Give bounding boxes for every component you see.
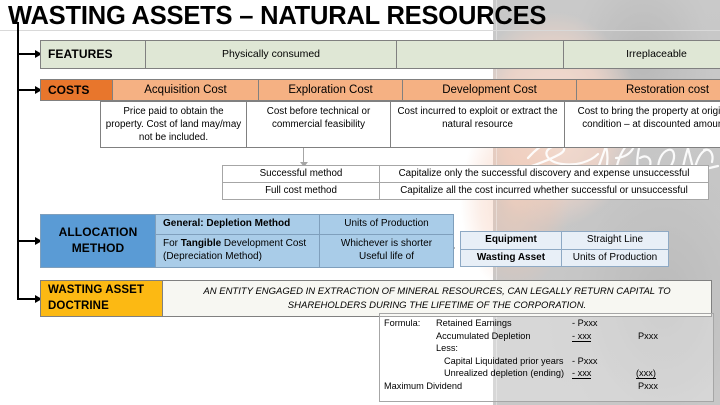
table-row: Price paid to obtain the property. Cost … xyxy=(101,102,720,148)
features-label: FEATURES xyxy=(41,41,146,69)
asset-method-wasting-asset: Units of Production xyxy=(562,249,669,267)
formula-amount-0: - Pxxx xyxy=(572,318,598,328)
allocation-method-tangible: Whichever is shorter Useful life of xyxy=(320,234,454,267)
table-row: WASTING ASSET DOCTRINE AN ENTITY ENGAGED… xyxy=(41,281,712,317)
connector-branch-doctrine xyxy=(17,298,37,300)
table-row: FEATURES Physically consumed Irreplaceab… xyxy=(41,41,720,69)
formula-total-4: (xxx) xyxy=(636,368,656,379)
method-rule-successful: Capitalize only the successful discovery… xyxy=(380,166,709,183)
connector-branch-features xyxy=(17,53,37,55)
allocation-basis-bold: Tangible xyxy=(181,238,221,249)
features-table: FEATURES Physically consumed Irreplaceab… xyxy=(40,40,720,69)
method-name-full-cost: Full cost method xyxy=(223,183,380,200)
formula-item-1: Accumulated Depletion xyxy=(436,331,530,341)
formula-footer-total: Pxxx xyxy=(638,381,658,391)
doctrine-text: AN ENTITY ENGAGED IN EXTRACTION OF MINER… xyxy=(163,281,712,317)
asset-name-wasting-asset: Wasting Asset xyxy=(461,249,562,267)
costs-desc-restoration: Cost to bring the property at original c… xyxy=(565,102,720,148)
method-rule-full-cost: Capitalize all the cost incurred whether… xyxy=(380,183,709,200)
formula-box: Formula: Retained Earnings - Pxxx Accumu… xyxy=(379,313,714,402)
doctrine-label-line2: DOCTRINE xyxy=(48,300,109,312)
table-row: COSTS Acquisition Cost Exploration Cost … xyxy=(41,80,720,101)
table-row: Equipment Straight Line xyxy=(461,232,669,250)
table-row: Full cost method Capitalize all the cost… xyxy=(223,183,709,200)
allocation-basis-suffix: Development Cost xyxy=(221,238,306,249)
formula-total-1: Pxxx xyxy=(638,331,658,341)
costs-label: COSTS xyxy=(41,80,113,101)
connector-branch-costs xyxy=(17,89,37,91)
doctrine-label: WASTING ASSET DOCTRINE xyxy=(41,281,163,317)
formula-line: Unrealized depletion (ending) - xxx (xxx… xyxy=(380,368,713,381)
connector-branch-allocation xyxy=(17,240,37,242)
table-row: Wasting Asset Units of Production xyxy=(461,249,669,267)
features-cell-empty xyxy=(397,41,564,69)
costs-header-restoration: Restoration cost xyxy=(577,80,720,101)
costs-desc-acquisition: Price paid to obtain the property. Cost … xyxy=(101,102,247,148)
allocation-method-general: Units of Production xyxy=(320,215,454,235)
formula-item-4: Unrealized depletion (ending) xyxy=(444,368,564,378)
method-name-successful: Successful method xyxy=(223,166,380,183)
costs-desc-development: Cost incurred to exploit or extract the … xyxy=(391,102,565,148)
title-divider xyxy=(0,30,720,31)
formula-line: Less: xyxy=(380,343,713,356)
costs-header-development: Development Cost xyxy=(403,80,577,101)
costs-desc-exploration: Cost before technical or commercial feas… xyxy=(247,102,391,148)
allocation-label: ALLOCATION METHOD xyxy=(41,215,156,268)
formula-line: Capital Liquidated prior years - Pxxx xyxy=(380,356,713,369)
formula-caption: Formula: xyxy=(384,318,420,328)
costs-header-exploration: Exploration Cost xyxy=(259,80,403,101)
formula-item-0: Retained Earnings xyxy=(436,318,512,328)
costs-header-table: COSTS Acquisition Cost Exploration Cost … xyxy=(40,79,720,101)
features-cell-irreplaceable: Irreplaceable xyxy=(564,41,720,69)
asset-method-equipment: Straight Line xyxy=(562,232,669,250)
exploration-methods-table: Successful method Capitalize only the su… xyxy=(222,165,709,200)
formula-line: Formula: Retained Earnings - Pxxx xyxy=(380,318,713,331)
allocation-basis-general: General: Depletion Method xyxy=(156,215,320,235)
allocation-basis-line2: (Depreciation Method) xyxy=(163,251,262,262)
formula-amount-3: - Pxxx xyxy=(572,356,598,366)
formula-item-3: Capital Liquidated prior years xyxy=(444,356,564,366)
allocation-basis-prefix: For xyxy=(163,238,181,249)
formula-amount-4: - xxx xyxy=(572,368,591,379)
formula-item-2: Less: xyxy=(436,343,458,353)
doctrine-table: WASTING ASSET DOCTRINE AN ENTITY ENGAGED… xyxy=(40,280,712,317)
costs-description-table: Price paid to obtain the property. Cost … xyxy=(100,101,720,148)
formula-line: Accumulated Depletion - xxx Pxxx xyxy=(380,331,713,344)
features-cell-physically-consumed: Physically consumed xyxy=(146,41,397,69)
connector-trunk-vertical xyxy=(17,22,19,300)
allocation-method-line2: Useful life of xyxy=(359,251,414,262)
page-title: WASTING ASSETS – NATURAL RESOURCES xyxy=(8,2,546,31)
allocation-method-table: ALLOCATION METHOD General: Depletion Met… xyxy=(40,214,454,268)
connector-exploration-to-methods xyxy=(303,147,304,163)
formula-amount-1: - xxx xyxy=(572,331,591,342)
formula-footer: Maximum Dividend Pxxx xyxy=(380,381,713,394)
formula-footer-label: Maximum Dividend xyxy=(384,381,462,391)
asset-methods-table: Equipment Straight Line Wasting Asset Un… xyxy=(460,231,669,267)
table-row: ALLOCATION METHOD General: Depletion Met… xyxy=(41,215,454,235)
costs-header-acquisition: Acquisition Cost xyxy=(113,80,259,101)
doctrine-label-line1: WASTING ASSET xyxy=(48,284,144,296)
allocation-basis-tangible: For Tangible Development Cost (Depreciat… xyxy=(156,234,320,267)
table-row: Successful method Capitalize only the su… xyxy=(223,166,709,183)
asset-name-equipment: Equipment xyxy=(461,232,562,250)
allocation-method-line1: Whichever is shorter xyxy=(341,238,432,249)
